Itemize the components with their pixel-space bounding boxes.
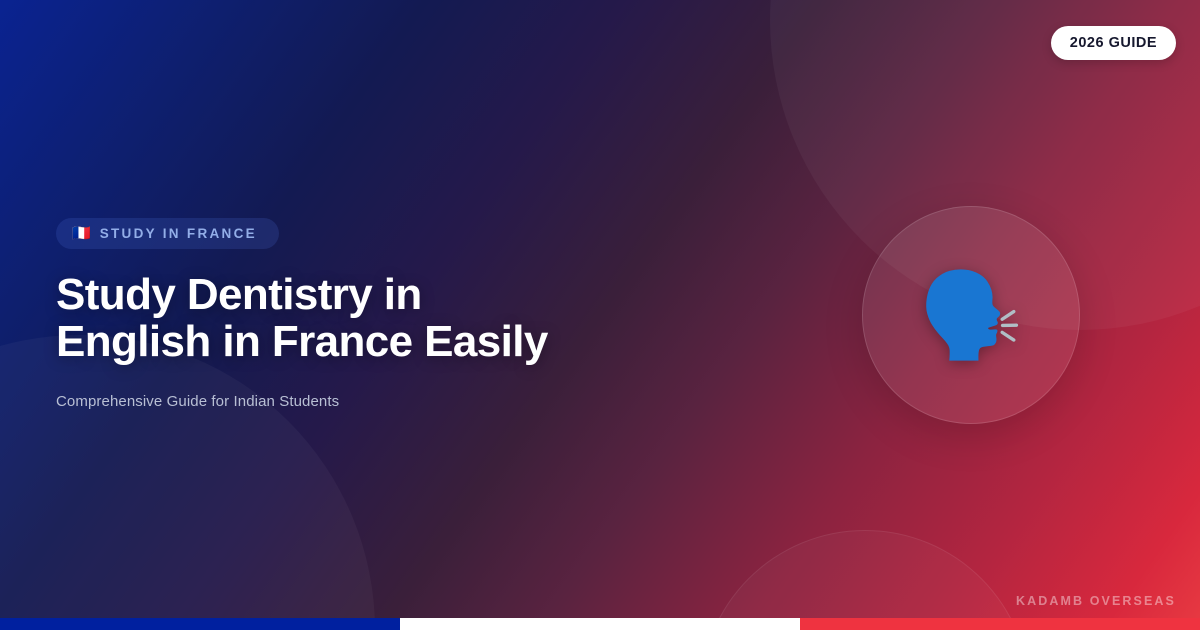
brand-watermark: KADAMB OVERSEAS xyxy=(1016,594,1176,608)
page-title: Study Dentistry in English in France Eas… xyxy=(56,271,696,365)
page-subtitle: Comprehensive Guide for Indian Students xyxy=(56,393,696,410)
decorative-circle-bottom-right xyxy=(700,530,1030,630)
study-in-france-label: STUDY IN FRANCE xyxy=(100,226,257,241)
speaking-head-icon: 🗣️ xyxy=(919,273,1024,357)
flag-stripe-white xyxy=(400,618,800,630)
france-flag-icon: 🇫🇷 xyxy=(72,226,91,241)
headline-line-1: Study Dentistry in xyxy=(56,271,696,318)
flag-stripe-blue xyxy=(0,618,400,630)
hero-content: 🇫🇷 STUDY IN FRANCE Study Dentistry in En… xyxy=(56,218,696,410)
study-in-france-badge: 🇫🇷 STUDY IN FRANCE xyxy=(56,218,279,249)
hero-banner: 2026 GUIDE 🇫🇷 STUDY IN FRANCE Study Dent… xyxy=(0,0,1200,630)
french-flag-bar xyxy=(0,618,1200,630)
guide-year-badge[interactable]: 2026 GUIDE xyxy=(1051,26,1176,60)
speaking-head-medallion: 🗣️ xyxy=(862,206,1080,424)
headline-line-2: English in France Easily xyxy=(56,318,696,365)
flag-stripe-red xyxy=(800,618,1200,630)
